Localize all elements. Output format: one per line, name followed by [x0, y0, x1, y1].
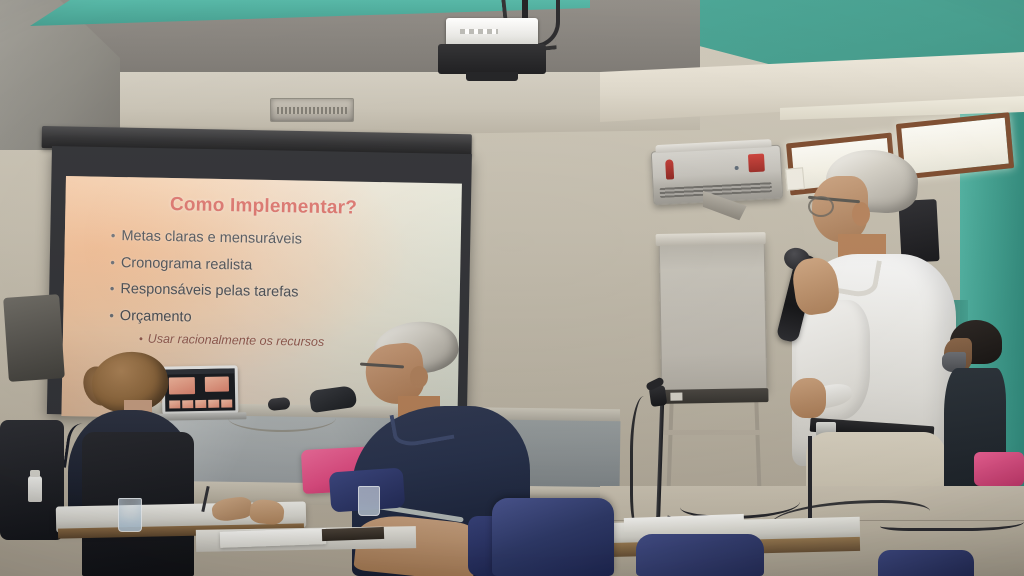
notebook-dark [322, 527, 384, 541]
presenter-hand-lower [790, 378, 826, 418]
flipchart-label [670, 393, 682, 401]
flipchart-paper-top [656, 232, 766, 246]
slide-sub-bullet: Usar racionalmente os recursos [139, 331, 325, 349]
water-bottle-cap [30, 470, 40, 477]
water-bottle [28, 476, 42, 502]
laptop-notes-pane [205, 376, 229, 391]
chair-blue-center [492, 498, 614, 576]
water-glass [118, 498, 142, 532]
lectern-left [3, 294, 65, 382]
chair-blue-foreground [636, 534, 764, 576]
flipchart-crossbar [664, 430, 760, 435]
slide-bullet: Cronograma realista [110, 256, 442, 278]
floor-cable-3 [880, 508, 1024, 531]
presenter-ear [852, 202, 870, 226]
laptop-slide-thumbnail [208, 400, 219, 408]
pink-bag-right [974, 452, 1024, 486]
air-conditioner-sticker-left [665, 159, 674, 179]
ceiling-projector [438, 18, 546, 78]
flipchart-board [659, 237, 768, 393]
projector-bracket [438, 44, 546, 74]
seated-man-ear [410, 366, 428, 388]
slide-bullet: Responsáveis pelas tarefas [110, 282, 442, 304]
plastic-cup [358, 486, 380, 516]
presenter-glasses-lens-icon [808, 196, 834, 217]
slide-title: Como Implementar? [65, 192, 461, 222]
air-conditioner-sticker-right [748, 154, 765, 173]
chair-blue-right [878, 550, 974, 576]
presentation-room-photo: Como Implementar? Metas claras e mensurá… [0, 0, 1024, 576]
air-conditioner-led-icon [735, 166, 739, 170]
slide-bullet: Metas claras e mensuráveis [111, 229, 443, 251]
ceiling-vent-icon [270, 98, 354, 122]
